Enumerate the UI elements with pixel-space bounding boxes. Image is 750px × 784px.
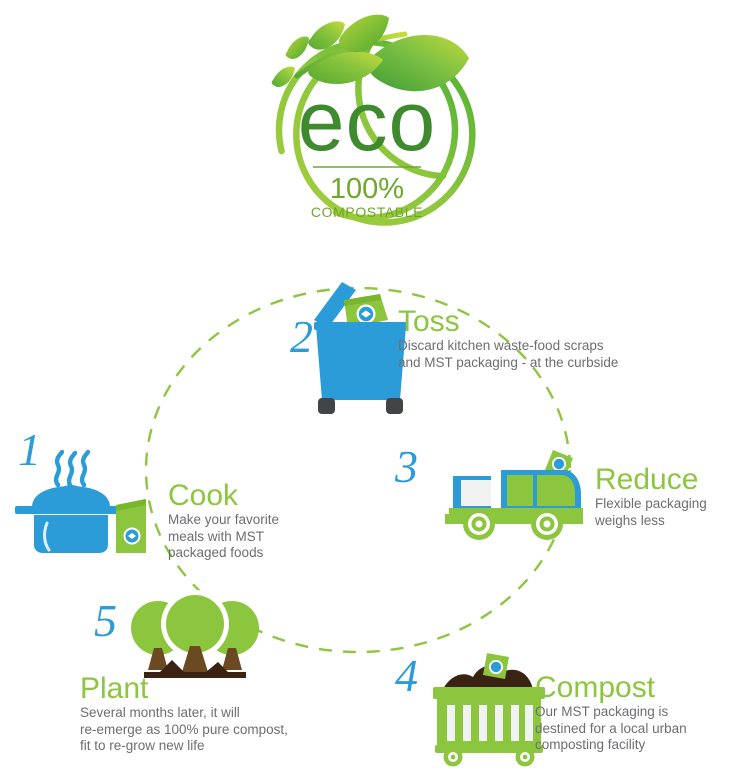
step-text-group: Toss Discard kitchen waste-food scraps a… — [398, 306, 618, 371]
step-toss[interactable]: 2 Toss Discard kitchen waste-food scraps… — [290, 278, 690, 428]
step-description: Make your favorite meals with MST packag… — [168, 512, 279, 562]
step-title: Cook — [168, 480, 279, 512]
step-description: Several months later, it will re-emerge … — [80, 705, 288, 755]
logo-caption: COMPOSTABLE — [311, 204, 423, 220]
step-cook[interactable]: 1 Cook Make — [0, 425, 340, 560]
cooking-pot-icon — [10, 449, 160, 554]
step-description: Discard kitchen waste-food scraps and MS… — [398, 338, 618, 371]
step-text-group: Compost Our MST packaging is destined fo… — [535, 672, 687, 754]
step-title: Toss — [398, 306, 618, 338]
step-text-group: Cook Make your favorite meals with MST p… — [168, 480, 279, 562]
step-compost[interactable]: 4 — [395, 645, 750, 775]
eco-compostable-logo: eco 100% COMPOSTABLE — [255, 2, 480, 234]
step-title: Plant — [80, 673, 288, 705]
logo-percent: 100% — [330, 173, 404, 205]
garbage-truck-icon — [445, 448, 590, 543]
step-reduce[interactable]: 3 — [395, 440, 750, 560]
step-plant[interactable]: 5 Plant Several months later, it will re… — [80, 588, 370, 778]
step-text-group: Reduce Flexible packaging weighs less — [595, 464, 707, 529]
step-text-group: Plant Several months later, it will re-e… — [80, 673, 288, 755]
step-title: Reduce — [595, 464, 707, 496]
step-number: 3 — [395, 444, 417, 490]
step-number: 5 — [94, 598, 116, 644]
step-number: 4 — [395, 653, 417, 699]
step-title: Compost — [535, 672, 687, 704]
step-description: Our MST packaging is destined for a loca… — [535, 704, 687, 754]
step-description: Flexible packaging weighs less — [595, 496, 707, 529]
logo-wordmark: eco — [298, 74, 436, 168]
trees-icon — [130, 588, 260, 678]
